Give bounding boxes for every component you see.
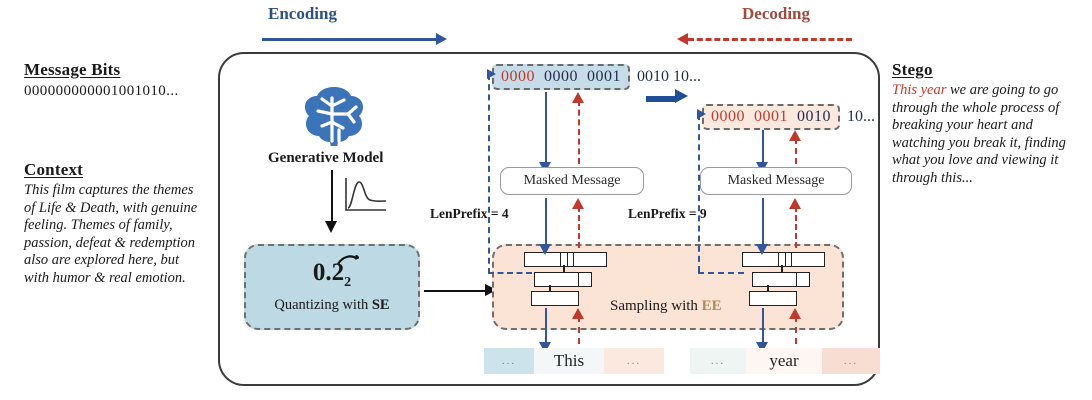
bits-down-line-1 bbox=[545, 92, 547, 164]
sampler-down-line-2 bbox=[762, 308, 764, 344]
word-left-ellipsis-2: ... bbox=[690, 348, 746, 374]
message-bits-value: 000000000001001010... bbox=[24, 83, 214, 100]
decode-mid-line-1 bbox=[578, 206, 580, 248]
word-right-ellipsis-1: ... bbox=[604, 348, 664, 374]
sampler-down-line-1 bbox=[545, 308, 547, 344]
word-strip-1: ... This ... bbox=[484, 348, 664, 374]
sampling-caption-bold: EE bbox=[702, 298, 722, 314]
decoding-arrow-head bbox=[677, 33, 688, 45]
step-transition-arrowhead bbox=[675, 89, 688, 103]
context-title: Context bbox=[24, 160, 206, 180]
bit-group-highlighted-2b: 0001 bbox=[754, 108, 788, 125]
brain-icon bbox=[298, 84, 370, 151]
decode-mid-arrowhead-1 bbox=[572, 198, 584, 209]
sampler-to-bits-arrowhead-1 bbox=[487, 69, 496, 79]
quantized-value: 0.22 bbox=[313, 260, 351, 290]
masked-down-line-2 bbox=[762, 198, 764, 246]
word-up-line-1 bbox=[578, 316, 580, 344]
context-block: Context This film captures the themes of… bbox=[24, 160, 206, 287]
quantizing-box: 0.22 Quantizing with SE bbox=[244, 244, 420, 330]
word-left-ellipsis-1: ... bbox=[484, 348, 534, 374]
quantizing-caption-prefix: Quantizing with bbox=[274, 297, 371, 313]
lenprefix-label-2: LenPrefix = 9 bbox=[628, 206, 707, 222]
bits-down-line-2 bbox=[762, 130, 764, 164]
quantizer-to-sampler-line bbox=[424, 290, 486, 292]
word-up-arrowhead-1 bbox=[572, 308, 584, 319]
quantized-subscript: 2 bbox=[344, 275, 351, 290]
bit-group-plain-1a: 0000 bbox=[544, 68, 578, 85]
masked-message-box-2: Masked Message bbox=[700, 167, 852, 195]
sampler-to-bits-hline-1 bbox=[488, 272, 532, 274]
masked-down-line-1 bbox=[545, 198, 547, 246]
sampler-to-bits-hline-2 bbox=[698, 272, 744, 274]
model-to-quantizer-arrowhead bbox=[325, 221, 337, 233]
bit-tail-1: 0010 10... bbox=[637, 68, 701, 86]
word-up-arrowhead-2 bbox=[789, 308, 801, 319]
context-text: This film captures the themes of Life & … bbox=[24, 182, 206, 287]
bit-box-1: 0000 0000 0001 bbox=[492, 64, 630, 90]
decode-up-line-2 bbox=[795, 138, 797, 164]
stego-block: Stego This year we are going to go throu… bbox=[892, 60, 1084, 187]
masked-down-arrowhead-2 bbox=[756, 244, 768, 255]
sampling-caption: Sampling with EE bbox=[610, 298, 722, 315]
decode-up-line-1 bbox=[578, 100, 580, 164]
bit-tail-2: 10... bbox=[847, 108, 875, 126]
sampler-to-bits-line-2 bbox=[698, 114, 700, 272]
sampler-to-bits-line-1 bbox=[488, 74, 490, 274]
step-transition-line bbox=[646, 96, 676, 102]
stego-text: This year we are going to go through the… bbox=[892, 82, 1084, 187]
distribution-curve-icon bbox=[342, 176, 388, 223]
decode-mid-arrowhead-2 bbox=[789, 198, 801, 209]
quantizing-caption-bold: SE bbox=[372, 297, 390, 313]
model-to-quantizer-line bbox=[331, 170, 333, 222]
word-strip-2: ... year ... bbox=[690, 348, 880, 374]
sampling-caption-prefix: Sampling with bbox=[610, 298, 702, 314]
bit-box-2: 0000 0001 0010 bbox=[702, 104, 840, 130]
word-right-ellipsis-2: ... bbox=[822, 348, 880, 374]
encoding-arrow-line bbox=[262, 38, 436, 41]
lenprefix-label-1: LenPrefix = 4 bbox=[430, 206, 509, 222]
masked-down-arrowhead-1 bbox=[539, 244, 551, 255]
decoding-label: Decoding bbox=[742, 4, 810, 24]
encoding-label: Encoding bbox=[268, 4, 337, 24]
bit-string-row-1: 0000 0000 0001 0010 10... bbox=[492, 64, 701, 90]
encoding-arrow-head bbox=[436, 33, 447, 45]
bit-group-plain-2a: 0010 bbox=[797, 108, 831, 125]
message-bits-title: Message Bits bbox=[24, 60, 214, 80]
decode-mid-line-2 bbox=[795, 206, 797, 248]
decode-up-arrowhead-2 bbox=[789, 130, 801, 141]
word-token-1: This bbox=[534, 348, 604, 374]
word-up-line-2 bbox=[795, 316, 797, 344]
bit-string-row-2: 0000 0001 0010 10... bbox=[702, 104, 875, 130]
word-token-2: year bbox=[746, 348, 822, 374]
decode-up-arrowhead-1 bbox=[572, 92, 584, 103]
message-bits-block: Message Bits 000000000001001010... bbox=[24, 60, 214, 100]
stego-title: Stego bbox=[892, 60, 1084, 80]
masked-message-box-1: Masked Message bbox=[500, 167, 644, 195]
decoding-arrow-line bbox=[688, 38, 852, 41]
bit-group-highlighted-2a: 0000 bbox=[711, 108, 745, 125]
bit-group-highlighted-1a: 0000 bbox=[501, 68, 535, 85]
generative-model-label: Generative Model bbox=[268, 150, 383, 167]
bit-group-plain-1b: 0001 bbox=[587, 68, 621, 85]
quantizing-caption: Quantizing with SE bbox=[274, 297, 389, 314]
stego-highlight: This year bbox=[892, 82, 946, 98]
sampler-to-bits-arrowhead-2 bbox=[697, 109, 706, 119]
